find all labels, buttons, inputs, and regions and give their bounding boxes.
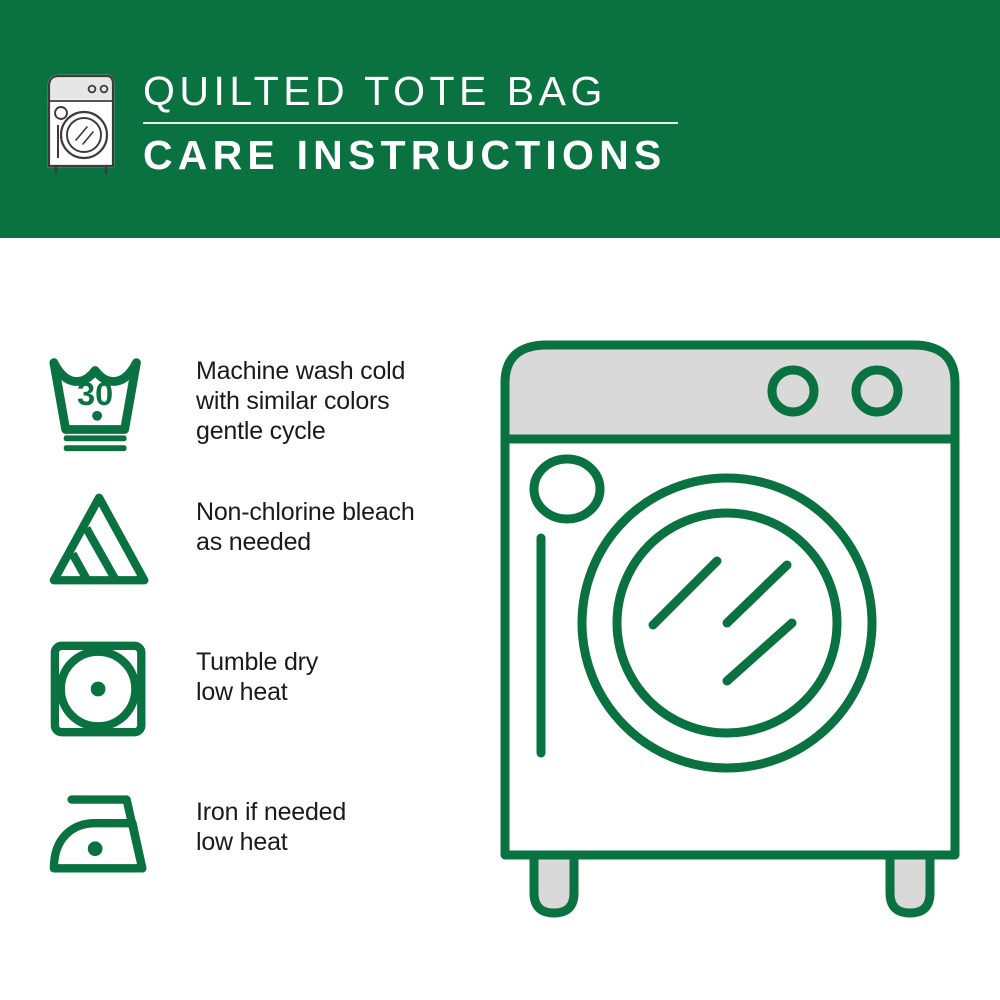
page-title: QUILTED TOTE BAG [143,66,763,116]
tumble-dry-low-heat-icon [48,641,158,737]
machine-body [505,439,955,855]
washing-machine-illustration [495,333,965,928]
header-text-block: QUILTED TOTE BAG CARE INSTRUCTIONS [143,66,763,179]
care-instructions-page: QUILTED TOTE BAG CARE INSTRUCTIONS 30 [0,0,1000,1000]
page-subtitle: CARE INSTRUCTIONS [143,131,763,179]
care-instruction-item: Iron if needed low heat [48,791,478,873]
washing-machine-icon [44,72,118,176]
title-divider [143,122,678,124]
care-instruction-text: Tumble dry low heat [196,641,318,707]
wash-temperature-label: 30 [77,376,113,412]
header-banner: QUILTED TOTE BAG CARE INSTRUCTIONS [0,0,1000,238]
care-instruction-text: Non-chlorine bleach as needed [196,491,415,557]
machine-control-panel [505,345,955,439]
bleach-triangle-non-chlorine-icon [48,491,158,587]
care-instruction-text: Iron if needed low heat [196,791,346,857]
care-instruction-item: Non-chlorine bleach as needed [48,491,478,587]
machine-leg [890,855,930,913]
care-instruction-item: 30 Machine wash cold with similar colors… [48,350,478,452]
iron-low-heat-icon [48,791,158,873]
care-instruction-item: Tumble dry low heat [48,641,478,737]
machine-leg [534,855,574,913]
wash-tub-30-gentle-icon: 30 [48,350,158,452]
care-instruction-list: 30 Machine wash cold with similar colors… [0,238,480,1000]
care-instruction-text: Machine wash cold with similar colors ge… [196,350,405,446]
